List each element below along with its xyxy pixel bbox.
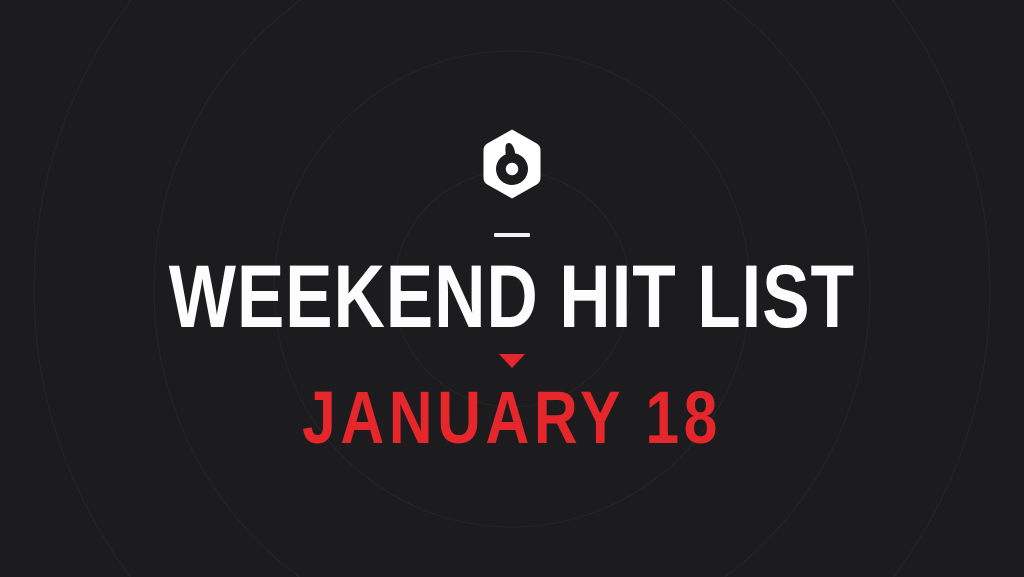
red-triangle-caret (499, 354, 525, 368)
date-label: JANUARY 18 (302, 381, 722, 455)
page-title: WEEKEND HIT LIST (169, 253, 855, 340)
promo-banner: WEEKEND HIT LIST JANUARY 18 (0, 0, 1024, 577)
beats-hexagon-logo (480, 128, 544, 200)
title-divider (494, 233, 530, 237)
